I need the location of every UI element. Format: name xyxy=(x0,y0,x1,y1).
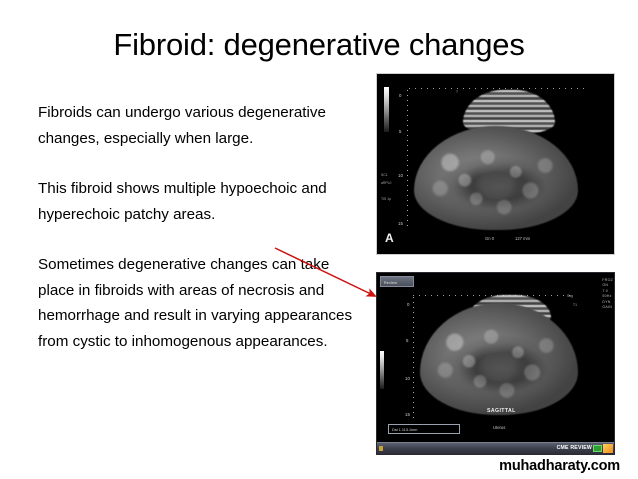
taskbar-left-icon xyxy=(379,446,383,451)
panel-letter-a: A xyxy=(385,232,394,244)
grayscale-reference-bar xyxy=(384,87,389,132)
depth-label-lower-10: 10 xyxy=(405,377,410,381)
depth-scale-top-ticks xyxy=(409,88,584,89)
review-header-chip: Review xyxy=(380,276,414,287)
ultrasound-sector-lower xyxy=(420,303,578,415)
param-50hz: 50Hz xyxy=(602,294,613,299)
organ-label-uterus: Uterus xyxy=(493,426,505,430)
depth-label-15: 15 xyxy=(398,222,403,226)
depth-scale-ticks-lower xyxy=(413,297,414,419)
probe-marker-t-lower: T1 xyxy=(573,304,577,307)
gain-readout: Gn 0 xyxy=(485,237,494,241)
measurement-readout-box: Dst 1 113.1mm xyxy=(388,424,460,434)
probe-marker-t: T xyxy=(456,91,458,94)
taskbar-orange-icon xyxy=(603,444,613,453)
site-watermark: muhadharaty.com xyxy=(499,458,620,474)
plane-label-sagittal: SAGITTAL xyxy=(487,409,516,414)
probe-setting-tis: TIS 1p xyxy=(381,198,391,201)
taskbar-green-indicator xyxy=(593,445,602,452)
depth-readout: 127 mm xyxy=(515,237,530,241)
paragraph-1: Fibroids can undergo various degenerativ… xyxy=(38,100,358,151)
depth-label-lower-0: 0 xyxy=(407,303,409,307)
plane-indicator-sag: Sag xyxy=(567,295,573,298)
depth-label-5: 5 xyxy=(399,130,401,134)
slide-canvas: Fibroid: degenerative changes Fibroids c… xyxy=(0,0,638,479)
paragraph-3: Sometimes degenerative changes can take … xyxy=(38,252,358,354)
scanner-parameters-panel: FROZ GN 7.0 50Hz DYN GAIN xyxy=(602,278,613,310)
taskbar-cme-label: CME REVIEW xyxy=(557,445,592,451)
ultrasound-image-lower: Review 0 5 10 15 Sag T1 FROZ GN 7.0 50Hz… xyxy=(376,272,615,455)
ultrasound-image-upper: 0 5 10 15 SC1 aRPL0 TIS 1p A Gn 0 127 mm… xyxy=(376,73,615,255)
scanner-taskbar: CME REVIEW xyxy=(377,442,614,454)
body-text-block: Fibroids can undergo various degenerativ… xyxy=(38,100,358,354)
depth-label-10: 10 xyxy=(398,174,403,178)
depth-scale-ticks xyxy=(407,90,408,230)
depth-label-lower-15: 15 xyxy=(405,413,410,417)
page-title: Fibroid: degenerative changes xyxy=(0,26,638,64)
depth-label-lower-5: 5 xyxy=(406,339,408,343)
ultrasound-sector-upper xyxy=(414,126,578,230)
measurement-value: Dst 1 113.1mm xyxy=(389,425,459,432)
probe-setting-arpl0: aRPL0 xyxy=(381,182,391,185)
probe-setting-sc1: SC1 xyxy=(381,174,388,177)
paragraph-2: This fibroid shows multiple hypoechoic a… xyxy=(38,176,358,227)
grayscale-reference-bar-lower xyxy=(380,351,384,389)
review-header-label: Review xyxy=(381,277,413,285)
param-gain: GAIN xyxy=(602,305,613,310)
depth-label-0: 0 xyxy=(399,94,401,98)
